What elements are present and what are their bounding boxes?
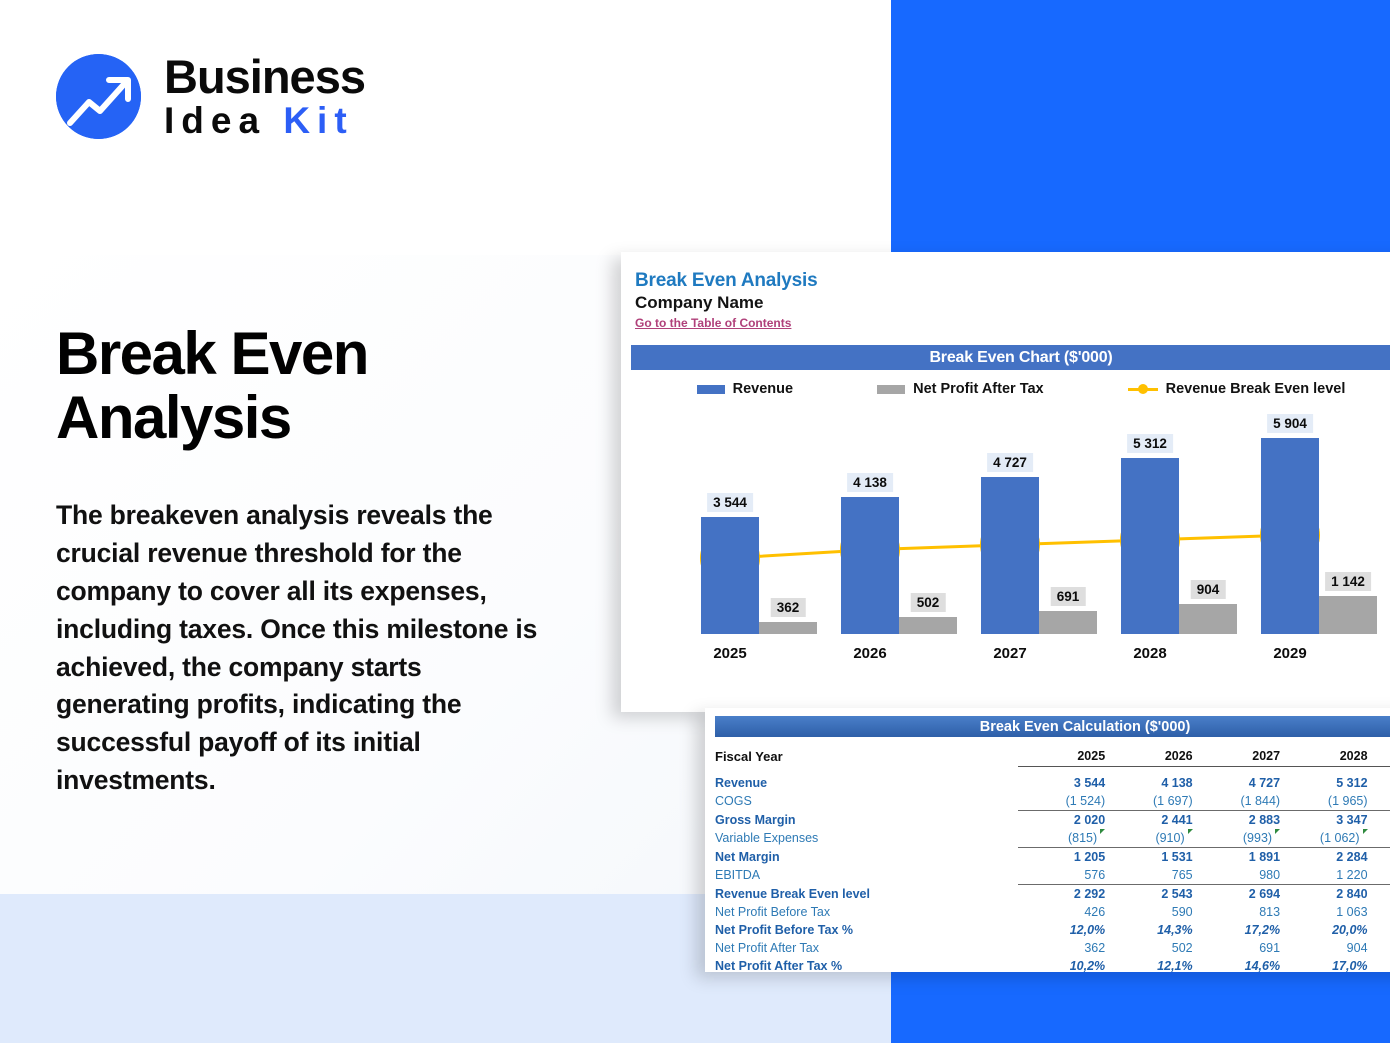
table-row: Net Profit Before Tax4265908131 0631 343 [715, 903, 1390, 921]
cell-2026: 1 531 [1105, 848, 1192, 867]
bar-net-profit-after-tax-2025[interactable] [759, 622, 817, 634]
bar-revenue-2029[interactable] [1261, 438, 1319, 634]
cell-2027: 980 [1193, 866, 1280, 885]
table-header: Fiscal Year 2025 2026 2027 2028 2029 [715, 747, 1390, 766]
cell-2029: 1 343 [1368, 903, 1390, 921]
legend-line-dot-icon [1128, 384, 1158, 395]
row-label: Revenue [715, 774, 1018, 792]
cell-2027: 4 727 [1193, 774, 1280, 792]
bar-net-profit-after-tax-2028[interactable] [1179, 604, 1237, 634]
column-header-fiscal-year: Fiscal Year [715, 747, 1018, 766]
bar-revenue-2025[interactable] [701, 517, 759, 634]
axis-tick-2028: 2028 [1133, 645, 1166, 662]
cell-2026: 14,3% [1105, 921, 1192, 939]
legend-item-break-even-level[interactable]: Revenue Break Even level [1128, 381, 1346, 397]
table-row: Gross Margin2 0202 4412 8833 3473 838 [715, 811, 1390, 830]
cell-2027: (1 844) [1193, 792, 1280, 811]
cell-2026: 4 138 [1105, 774, 1192, 792]
break-even-calculation-card: Break Even Calculation ($'000) Fiscal Ye… [705, 708, 1390, 972]
cell-2026: (910) [1105, 829, 1192, 848]
cell-2025: (815) [1018, 829, 1105, 848]
data-label-revenue-2027: 4 727 [987, 453, 1033, 472]
axis-tick-2025: 2025 [713, 645, 746, 662]
row-label: EBITDA [715, 866, 1018, 885]
chart-legend: Revenue Net Profit After Tax Revenue Bre… [621, 381, 1390, 397]
data-label-net-profit-after-tax-2026: 502 [911, 593, 946, 612]
cell-2028: 20,0% [1280, 921, 1367, 939]
cell-2027: 2 694 [1193, 885, 1280, 904]
legend-item-revenue[interactable]: Revenue [697, 381, 793, 397]
cell-2029: 1 490 [1368, 866, 1390, 885]
column-header-2029: 2029 [1368, 747, 1390, 766]
bar-net-profit-after-tax-2026[interactable] [899, 617, 957, 634]
row-label: COGS [715, 792, 1018, 811]
table-body: Revenue3 5444 1384 7275 3125 904COGS(1 5… [715, 766, 1390, 975]
cell-2025: 2 292 [1018, 885, 1105, 904]
cell-2027: 813 [1193, 903, 1280, 921]
cell-2025: 10,2% [1018, 957, 1105, 975]
row-label: Gross Margin [715, 811, 1018, 830]
bar-net-profit-after-tax-2029[interactable] [1319, 596, 1377, 634]
cell-2026: 590 [1105, 903, 1192, 921]
axis-tick-2029: 2029 [1273, 645, 1306, 662]
cell-2028: 5 312 [1280, 774, 1367, 792]
brand-word-idea: Idea [164, 100, 283, 141]
cell-2029: 3 838 [1368, 811, 1390, 830]
cell-2026: 2 441 [1105, 811, 1192, 830]
page-description: The breakeven analysis reveals the cruci… [56, 497, 546, 800]
cell-2027: 1 891 [1193, 848, 1280, 867]
row-label: Net Profit Before Tax % [715, 921, 1018, 939]
cell-2029: 2 716 [1368, 848, 1390, 867]
legend-item-net-profit-after-tax[interactable]: Net Profit After Tax [877, 381, 1044, 397]
cell-2029: (1 122) [1368, 829, 1390, 848]
cell-2025: 2 020 [1018, 811, 1105, 830]
row-label: Net Profit After Tax [715, 939, 1018, 957]
legend-label-net-profit-after-tax: Net Profit After Tax [913, 381, 1044, 397]
column-header-2026: 2026 [1105, 747, 1192, 766]
cell-2028: 904 [1280, 939, 1367, 957]
table-row: Net Profit Before Tax %12,0%14,3%17,2%20… [715, 921, 1390, 939]
cell-2027: 14,6% [1193, 957, 1280, 975]
cell-2029: 22,8% [1368, 921, 1390, 939]
table-row: EBITDA5767659801 2201 490 [715, 866, 1390, 885]
error-triangle-icon [1363, 829, 1368, 834]
growth-arrow-icon [56, 54, 141, 139]
chart-group-2029: 5 9041 1422029 [1249, 402, 1373, 634]
legend-swatch-revenue [697, 385, 725, 394]
cell-2025: 12,0% [1018, 921, 1105, 939]
table-of-contents-link[interactable]: Go to the Table of Contents [635, 316, 791, 330]
cell-2025: 426 [1018, 903, 1105, 921]
cell-2026: (1 697) [1105, 792, 1192, 811]
data-label-net-profit-after-tax-2025: 362 [771, 598, 806, 617]
cell-2025: (1 524) [1018, 792, 1105, 811]
axis-tick-2027: 2027 [993, 645, 1026, 662]
error-triangle-icon [1100, 829, 1105, 834]
cell-2025: 362 [1018, 939, 1105, 957]
data-label-revenue-2025: 3 544 [707, 493, 753, 512]
table-row: Revenue3 5444 1384 7275 3125 904 [715, 774, 1390, 792]
cell-2029: 1 142 [1368, 939, 1390, 957]
legend-swatch-net-profit-after-tax [877, 385, 905, 394]
data-label-revenue-2026: 4 138 [847, 473, 893, 492]
cell-2028: 1 220 [1280, 866, 1367, 885]
table-row: Net Margin1 2051 5311 8912 2842 716 [715, 848, 1390, 867]
row-label: Variable Expenses [715, 829, 1018, 848]
brand-name-primary: Business [164, 53, 365, 100]
table-row: COGS(1 524)(1 697)(1 844)(1 965)(2 066) [715, 792, 1390, 811]
table-row: Net Profit After Tax %10,2%12,1%14,6%17,… [715, 957, 1390, 975]
break-even-chart-card: Break Even Analysis Company Name Go to t… [621, 252, 1390, 712]
cell-2025: 1 205 [1018, 848, 1105, 867]
bar-revenue-2027[interactable] [981, 477, 1039, 634]
row-label: Net Margin [715, 848, 1018, 867]
cell-2026: 12,1% [1105, 957, 1192, 975]
cell-2028: 2 840 [1280, 885, 1367, 904]
cell-2028: (1 062) [1280, 829, 1367, 848]
cell-2027: 2 883 [1193, 811, 1280, 830]
brand-logo: Business Idea Kit [56, 53, 365, 139]
row-label: Net Profit After Tax % [715, 957, 1018, 975]
chart-banner-title: Break Even Chart ($'000) [631, 345, 1390, 370]
cell-2029: 19,3% [1368, 957, 1390, 975]
cell-2029: (2 066) [1368, 792, 1390, 811]
chart-group-2026: 4 1385022026 [829, 402, 953, 634]
table-row: Variable Expenses(815)(910)(993)(1 062)(… [715, 829, 1390, 848]
cell-2028: 17,0% [1280, 957, 1367, 975]
bar-revenue-2028[interactable] [1121, 458, 1179, 634]
column-header-2027: 2027 [1193, 747, 1280, 766]
cell-2029: 2 984 [1368, 885, 1390, 904]
cell-2028: 3 347 [1280, 811, 1367, 830]
row-label: Net Profit Before Tax [715, 903, 1018, 921]
chart-plot-area: 2 2922 5432 6942 8402 984 3 54436220254 … [631, 402, 1390, 634]
data-label-net-profit-after-tax-2028: 904 [1191, 580, 1226, 599]
cell-2028: 2 284 [1280, 848, 1367, 867]
cell-2026: 765 [1105, 866, 1192, 885]
brand-name-secondary: Idea Kit [164, 102, 365, 139]
cell-2028: (1 965) [1280, 792, 1367, 811]
cell-2027: 691 [1193, 939, 1280, 957]
cell-2028: 1 063 [1280, 903, 1367, 921]
background-block-top-right [891, 0, 1390, 255]
data-label-revenue-2029: 5 904 [1267, 414, 1313, 433]
error-triangle-icon [1275, 829, 1280, 834]
cell-2026: 502 [1105, 939, 1192, 957]
legend-label-revenue: Revenue [733, 381, 793, 397]
data-label-revenue-2028: 5 312 [1127, 434, 1173, 453]
bar-net-profit-after-tax-2027[interactable] [1039, 611, 1097, 634]
data-label-net-profit-after-tax-2027: 691 [1051, 587, 1086, 606]
chart-group-2025: 3 5443622025 [689, 402, 813, 634]
cell-2025: 3 544 [1018, 774, 1105, 792]
data-label-net-profit-after-tax-2029: 1 142 [1325, 572, 1371, 591]
axis-tick-2026: 2026 [853, 645, 886, 662]
chart-group-2028: 5 3129042028 [1109, 402, 1233, 634]
table-banner-title: Break Even Calculation ($'000) [715, 716, 1390, 737]
table-header-row: Fiscal Year 2025 2026 2027 2028 2029 [715, 747, 1390, 766]
cell-2026: 2 543 [1105, 885, 1192, 904]
table-row: Revenue Break Even level2 2922 5432 6942… [715, 885, 1390, 904]
error-triangle-icon [1188, 829, 1193, 834]
chart-sheet-title: Break Even Analysis [635, 270, 1390, 292]
column-header-2028: 2028 [1280, 747, 1367, 766]
cell-2029: 5 904 [1368, 774, 1390, 792]
brand-word-kit: Kit [283, 100, 353, 141]
column-header-2025: 2025 [1018, 747, 1105, 766]
row-label: Revenue Break Even level [715, 885, 1018, 904]
table-spacer-row [715, 766, 1390, 774]
legend-label-break-even-level: Revenue Break Even level [1166, 381, 1346, 397]
chart-company-name: Company Name [635, 293, 1390, 313]
chart-group-2027: 4 7276912027 [969, 402, 1093, 634]
break-even-calculation-table: Fiscal Year 2025 2026 2027 2028 2029 Rev… [715, 747, 1390, 975]
table-row: Net Profit After Tax3625026919041 142 [715, 939, 1390, 957]
cell-2025: 576 [1018, 866, 1105, 885]
bar-revenue-2026[interactable] [841, 497, 899, 634]
chart-card-header: Break Even Analysis Company Name Go to t… [621, 252, 1390, 332]
cell-2027: 17,2% [1193, 921, 1280, 939]
page-title: Break Even Analysis [56, 322, 526, 449]
cell-2027: (993) [1193, 829, 1280, 848]
